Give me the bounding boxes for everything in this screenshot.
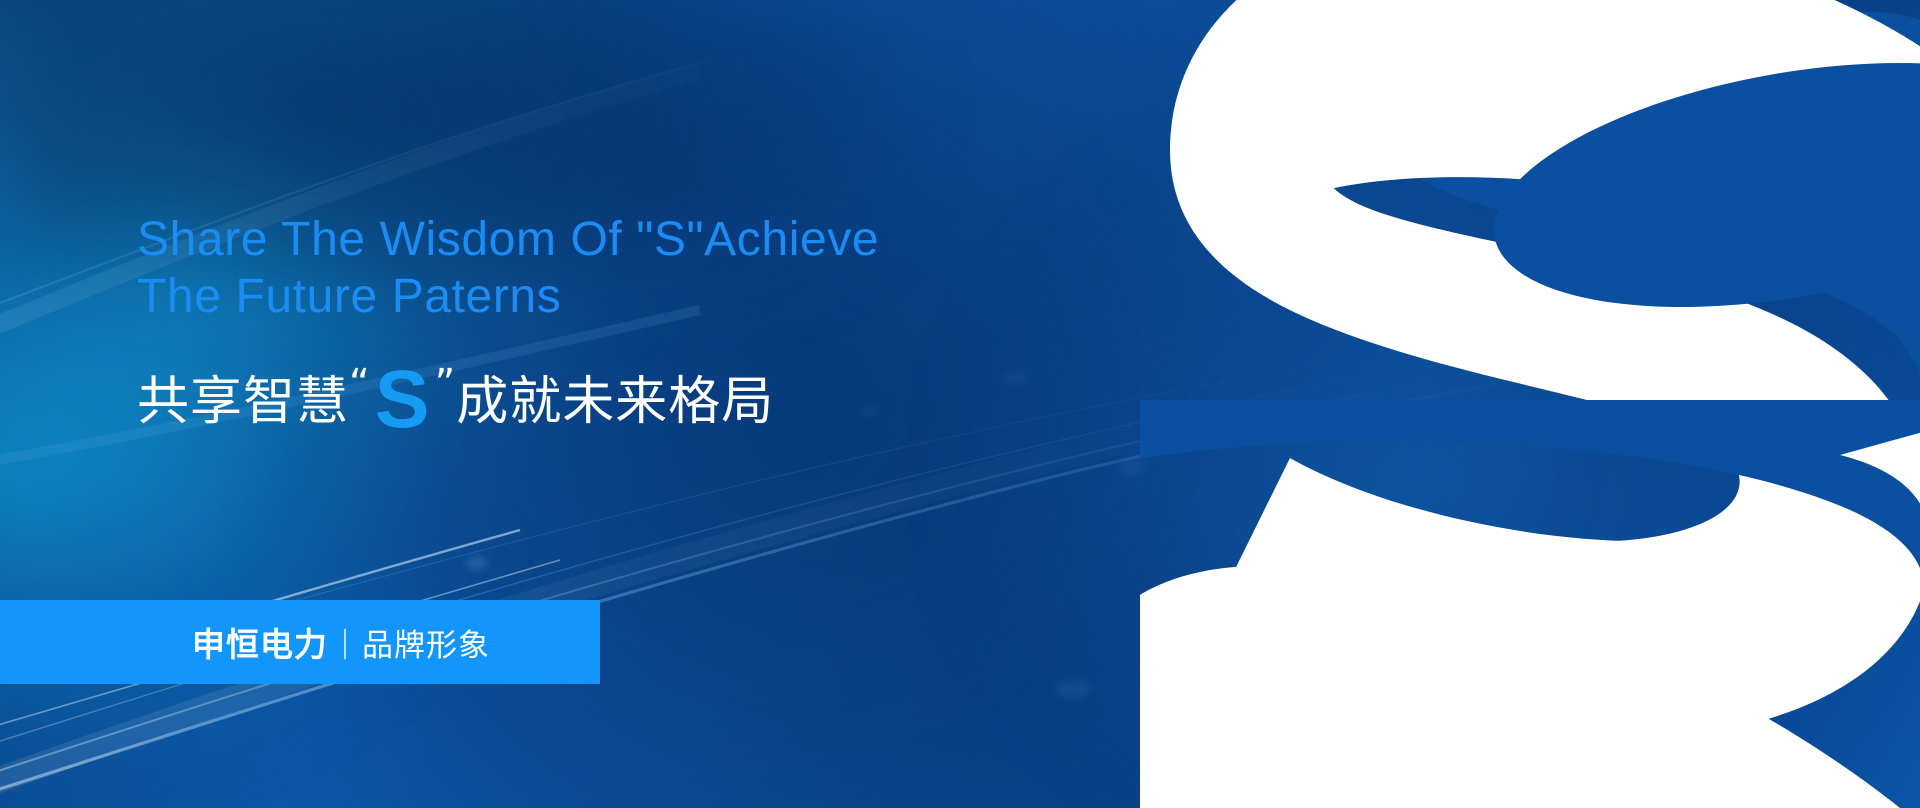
bokeh-dot: [1240, 736, 1270, 752]
bokeh-dot: [1120, 460, 1146, 474]
headline-chinese-before: 共享智慧: [137, 359, 349, 434]
brand-banner: Share The Wisdom Of "S"Achieve The Futur…: [0, 0, 1920, 808]
headline-english: Share The Wisdom Of "S"Achieve The Futur…: [137, 212, 1057, 325]
quote-close: ”: [434, 364, 456, 404]
bokeh-dot: [1056, 680, 1090, 698]
quote-open: “: [349, 364, 371, 404]
bokeh-dot: [466, 556, 488, 570]
lockup-brand-text: Brand: [1677, 518, 1862, 541]
headline-s-accent: S: [375, 359, 431, 441]
bokeh-dot: [1418, 596, 1444, 610]
brand-planning-lockup: Brand PLANNING: [1677, 518, 1862, 580]
badge-subject: 品牌形象: [362, 620, 490, 665]
lockup-planning-text: PLANNING: [1677, 547, 1862, 580]
brand-badge-bar: 申恒电力 | 品牌形象: [0, 600, 600, 684]
headline-chinese: 共享智慧 “ S ” 成就未来格局: [137, 355, 1057, 437]
headline-block: Share The Wisdom Of "S"Achieve The Futur…: [137, 212, 1057, 437]
brand-badge-content: 申恒电力 | 品牌形象: [192, 618, 490, 666]
headline-chinese-after: 成就未来格局: [456, 359, 774, 434]
badge-company-name: 申恒电力: [192, 618, 328, 666]
badge-separator: |: [340, 625, 350, 660]
